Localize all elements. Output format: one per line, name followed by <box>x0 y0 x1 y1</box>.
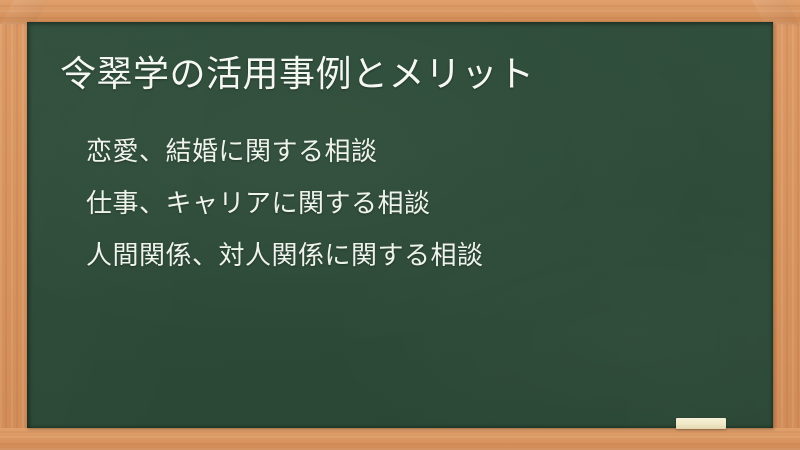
chalk-stick <box>676 418 726 429</box>
frame-rail-bottom <box>0 428 800 450</box>
page-title: 令翠学の活用事例とメリット <box>60 52 535 98</box>
list-item: 人間関係、対人関係に関する相談 <box>86 230 736 282</box>
list-item: 恋愛、結婚に関する相談 <box>86 126 736 178</box>
chalkboard-slide: 令翠学の活用事例とメリット 恋愛、結婚に関する相談 仕事、キャリアに関する相談 … <box>0 0 800 450</box>
bullet-list: 恋愛、結婚に関する相談 仕事、キャリアに関する相談 人間関係、対人関係に関する相… <box>86 126 736 282</box>
list-item: 仕事、キャリアに関する相談 <box>86 178 736 230</box>
frame-rail-top <box>0 0 800 24</box>
chalkboard-surface: 令翠学の活用事例とメリット 恋愛、結婚に関する相談 仕事、キャリアに関する相談 … <box>27 22 773 428</box>
